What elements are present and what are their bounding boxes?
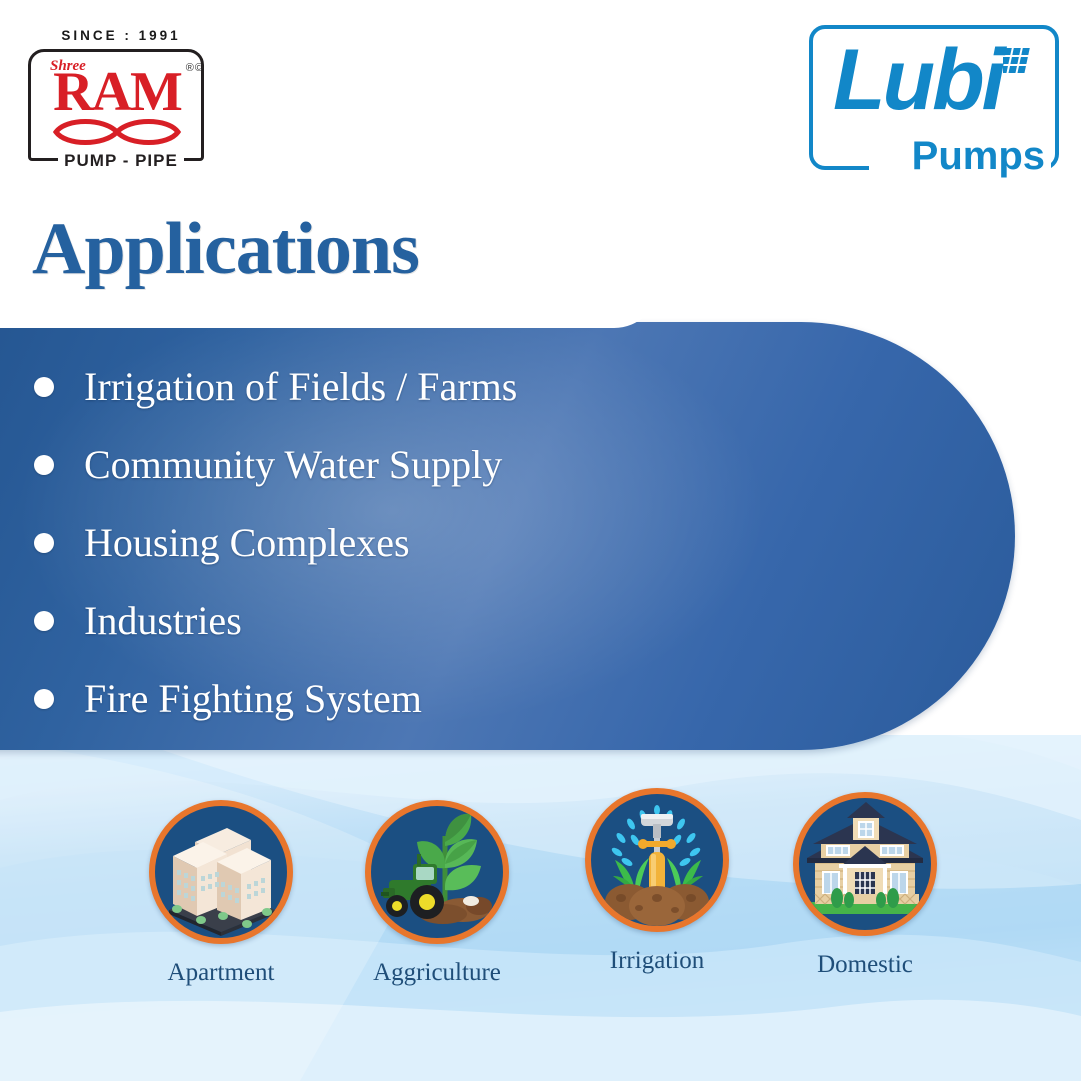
house-icon <box>793 792 937 936</box>
list-item-label: Industries <box>84 598 242 644</box>
segment-label: Aggriculture <box>348 958 526 988</box>
segment-label: Apartment <box>132 958 310 988</box>
apartment-buildings-icon <box>149 800 293 944</box>
lubi-wordmark: Lubi <box>833 37 1003 123</box>
bullet-dot-icon <box>34 377 54 397</box>
segment-domestic: Domestic <box>776 792 954 980</box>
list-item: Fire Fighting System <box>34 660 734 738</box>
ram-swirl-icon <box>46 116 188 148</box>
segment-aggriculture: Aggriculture <box>348 800 526 988</box>
page-title: Applications <box>32 206 419 292</box>
segment-label: Domestic <box>776 950 954 980</box>
applications-poster: SINCE : 1991 Shree RAM ®© PUMP - PIPE Lu… <box>0 0 1081 1081</box>
lubi-pumps-logo: Lubi Pumps <box>809 25 1059 170</box>
bullet-dot-icon <box>34 533 54 553</box>
list-item: Industries <box>34 582 734 660</box>
ram-since-label: SINCE : 1991 <box>26 28 216 43</box>
segment-label: Irrigation <box>568 946 746 976</box>
list-item-label: Irrigation of Fields / Farms <box>84 364 517 410</box>
lubi-grid-dot-icon <box>1003 47 1037 77</box>
list-item-label: Community Water Supply <box>84 442 502 488</box>
ram-wordmark: RAM <box>42 64 192 120</box>
tractor-plant-icon <box>365 800 509 944</box>
segment-apartment: Apartment <box>132 800 310 988</box>
bullet-dot-icon <box>34 611 54 631</box>
list-item-label: Housing Complexes <box>84 520 410 566</box>
bullet-dot-icon <box>34 689 54 709</box>
registered-copyright-icon: ®© <box>186 62 204 74</box>
lubi-subtitle: Pumps <box>902 136 1051 176</box>
bullet-dot-icon <box>34 455 54 475</box>
list-item: Housing Complexes <box>34 504 734 582</box>
list-item: Irrigation of Fields / Farms <box>34 348 734 426</box>
shree-ram-logo: SINCE : 1991 Shree RAM ®© PUMP - PIPE <box>26 28 216 168</box>
list-item: Community Water Supply <box>34 426 734 504</box>
segment-icons-row: Apartment <box>0 752 1081 1052</box>
segment-irrigation: Irrigation <box>568 788 746 976</box>
applications-list: Irrigation of Fields / Farms Community W… <box>34 348 734 738</box>
sprinkler-soil-icon <box>585 788 729 932</box>
list-item-label: Fire Fighting System <box>84 676 422 722</box>
ram-tagline: PUMP - PIPE <box>26 151 216 171</box>
